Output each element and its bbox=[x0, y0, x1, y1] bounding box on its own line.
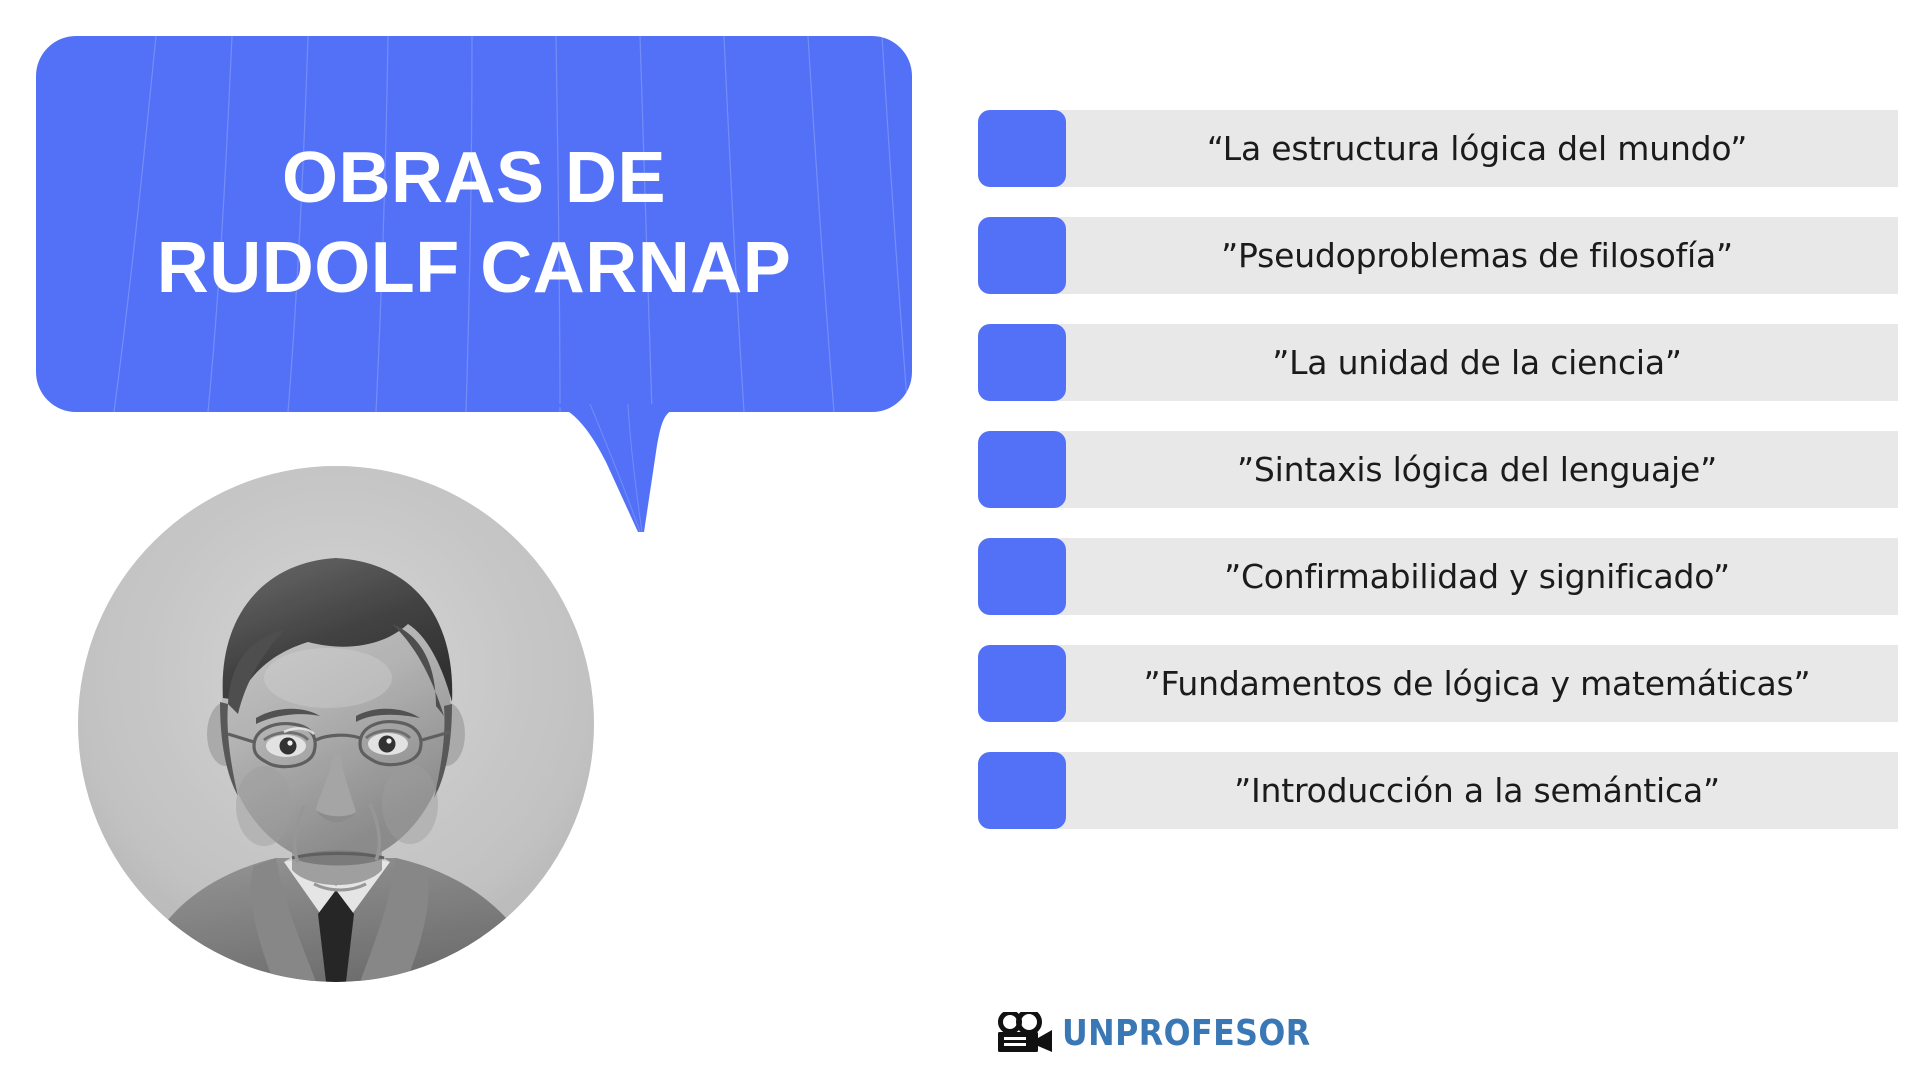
work-bar: ”Sintaxis lógica del lenguaje” bbox=[1056, 431, 1898, 508]
bullet-square-icon bbox=[978, 431, 1066, 508]
bullet-square-icon bbox=[978, 324, 1066, 401]
title-line-1: OBRAS DE bbox=[282, 137, 666, 221]
list-item[interactable]: ”Confirmabilidad y significado” bbox=[978, 538, 1898, 615]
bullet-square-icon bbox=[978, 110, 1066, 187]
left-panel: OBRAS DE RUDOLF CARNAP bbox=[0, 0, 940, 1080]
list-item[interactable]: ”La unidad de la ciencia” bbox=[978, 324, 1898, 401]
work-bar: “La estructura lógica del mundo” bbox=[1056, 110, 1898, 187]
title-line-2: RUDOLF CARNAP bbox=[157, 227, 791, 311]
movie-camera-icon bbox=[996, 1012, 1054, 1054]
work-title: ”La unidad de la ciencia” bbox=[1272, 343, 1682, 382]
work-bar: ”Pseudoproblemas de filosofía” bbox=[1056, 217, 1898, 294]
bullet-square-icon bbox=[978, 217, 1066, 294]
work-title: ”Confirmabilidad y significado” bbox=[1224, 557, 1730, 596]
speech-bubble-tail bbox=[556, 404, 676, 534]
logo-wordmark: UNPROFESOR bbox=[1062, 1013, 1311, 1054]
work-bar: ”Confirmabilidad y significado” bbox=[1056, 538, 1898, 615]
work-title: “La estructura lógica del mundo” bbox=[1207, 129, 1747, 168]
work-bar: ”La unidad de la ciencia” bbox=[1056, 324, 1898, 401]
works-list: “La estructura lógica del mundo” ”Pseudo… bbox=[978, 110, 1898, 859]
work-title: ”Fundamentos de lógica y matemáticas” bbox=[1144, 664, 1811, 703]
brand-logo[interactable]: UNPROFESOR bbox=[996, 1012, 1345, 1054]
list-item[interactable]: ”Pseudoproblemas de filosofía” bbox=[978, 217, 1898, 294]
work-title: ”Sintaxis lógica del lenguaje” bbox=[1237, 450, 1717, 489]
page-title: OBRAS DE RUDOLF CARNAP bbox=[36, 36, 912, 412]
bullet-square-icon bbox=[978, 538, 1066, 615]
work-bar: ”Introducción a la semántica” bbox=[1056, 752, 1898, 829]
list-item[interactable]: ”Introducción a la semántica” bbox=[978, 752, 1898, 829]
portrait-illustration bbox=[78, 466, 594, 982]
work-bar: ”Fundamentos de lógica y matemáticas” bbox=[1056, 645, 1898, 722]
list-item[interactable]: ”Fundamentos de lógica y matemáticas” bbox=[978, 645, 1898, 722]
bullet-square-icon bbox=[978, 752, 1066, 829]
work-title: ”Pseudoproblemas de filosofía” bbox=[1221, 236, 1733, 275]
list-item[interactable]: ”Sintaxis lógica del lenguaje” bbox=[978, 431, 1898, 508]
bullet-square-icon bbox=[978, 645, 1066, 722]
work-title: ”Introducción a la semántica” bbox=[1234, 771, 1720, 810]
speech-bubble: OBRAS DE RUDOLF CARNAP bbox=[36, 36, 912, 412]
portrait-photo bbox=[78, 466, 594, 982]
list-item[interactable]: “La estructura lógica del mundo” bbox=[978, 110, 1898, 187]
